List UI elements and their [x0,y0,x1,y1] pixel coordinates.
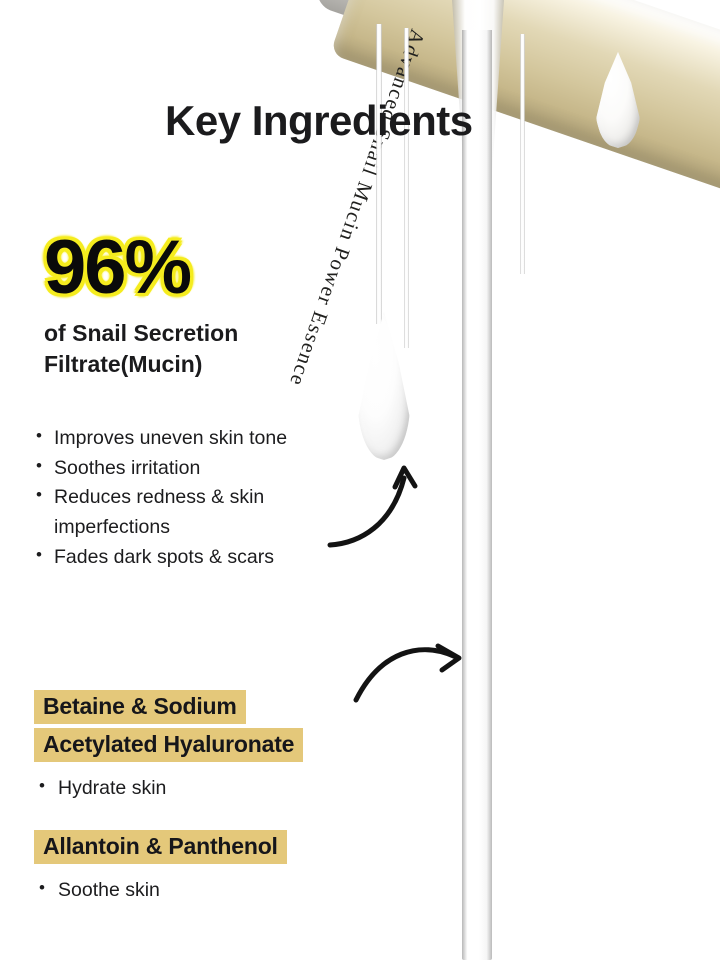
key-ingredients-infographic: Advanced Snail Mucin Power Essence Key I… [0,0,720,960]
content-layer: Key Ingredients 96% of Snail Secretion F… [0,0,720,960]
list-item: Hydrate skin [34,774,303,804]
mucin-percentage: 96% [44,232,324,304]
ingredient-name-line-1: Betaine & Sodium [34,690,246,724]
mucin-benefit-list: Improves uneven skin tone Soothes irrita… [34,424,364,572]
list-item: Soothes irritation [34,454,364,484]
list-item-continuation: imperfections [34,513,364,543]
ingredient-group-hydrate: Betaine & Sodium Acetylated Hyaluronate … [34,690,303,804]
ingredient-name-line-1: Allantoin & Panthenol [34,830,287,864]
list-item: Soothe skin [34,876,287,906]
ingredient-benefit-list: Hydrate skin [34,774,303,804]
ingredient-benefit-list: Soothe skin [34,876,287,906]
list-item: Improves uneven skin tone [34,424,364,454]
list-item: Reduces redness & skin [34,483,364,513]
page-title: Key Ingredients [165,97,473,145]
ingredient-name-line-2: Acetylated Hyaluronate [34,728,303,762]
ingredient-group-soothe: Allantoin & Panthenol Soothe skin [34,830,287,906]
mucin-caption: of Snail Secretion Filtrate(Mucin) [44,318,324,379]
list-item: Fades dark spots & scars [34,543,364,573]
mucin-stat-block: 96% of Snail Secretion Filtrate(Mucin) [44,232,324,379]
